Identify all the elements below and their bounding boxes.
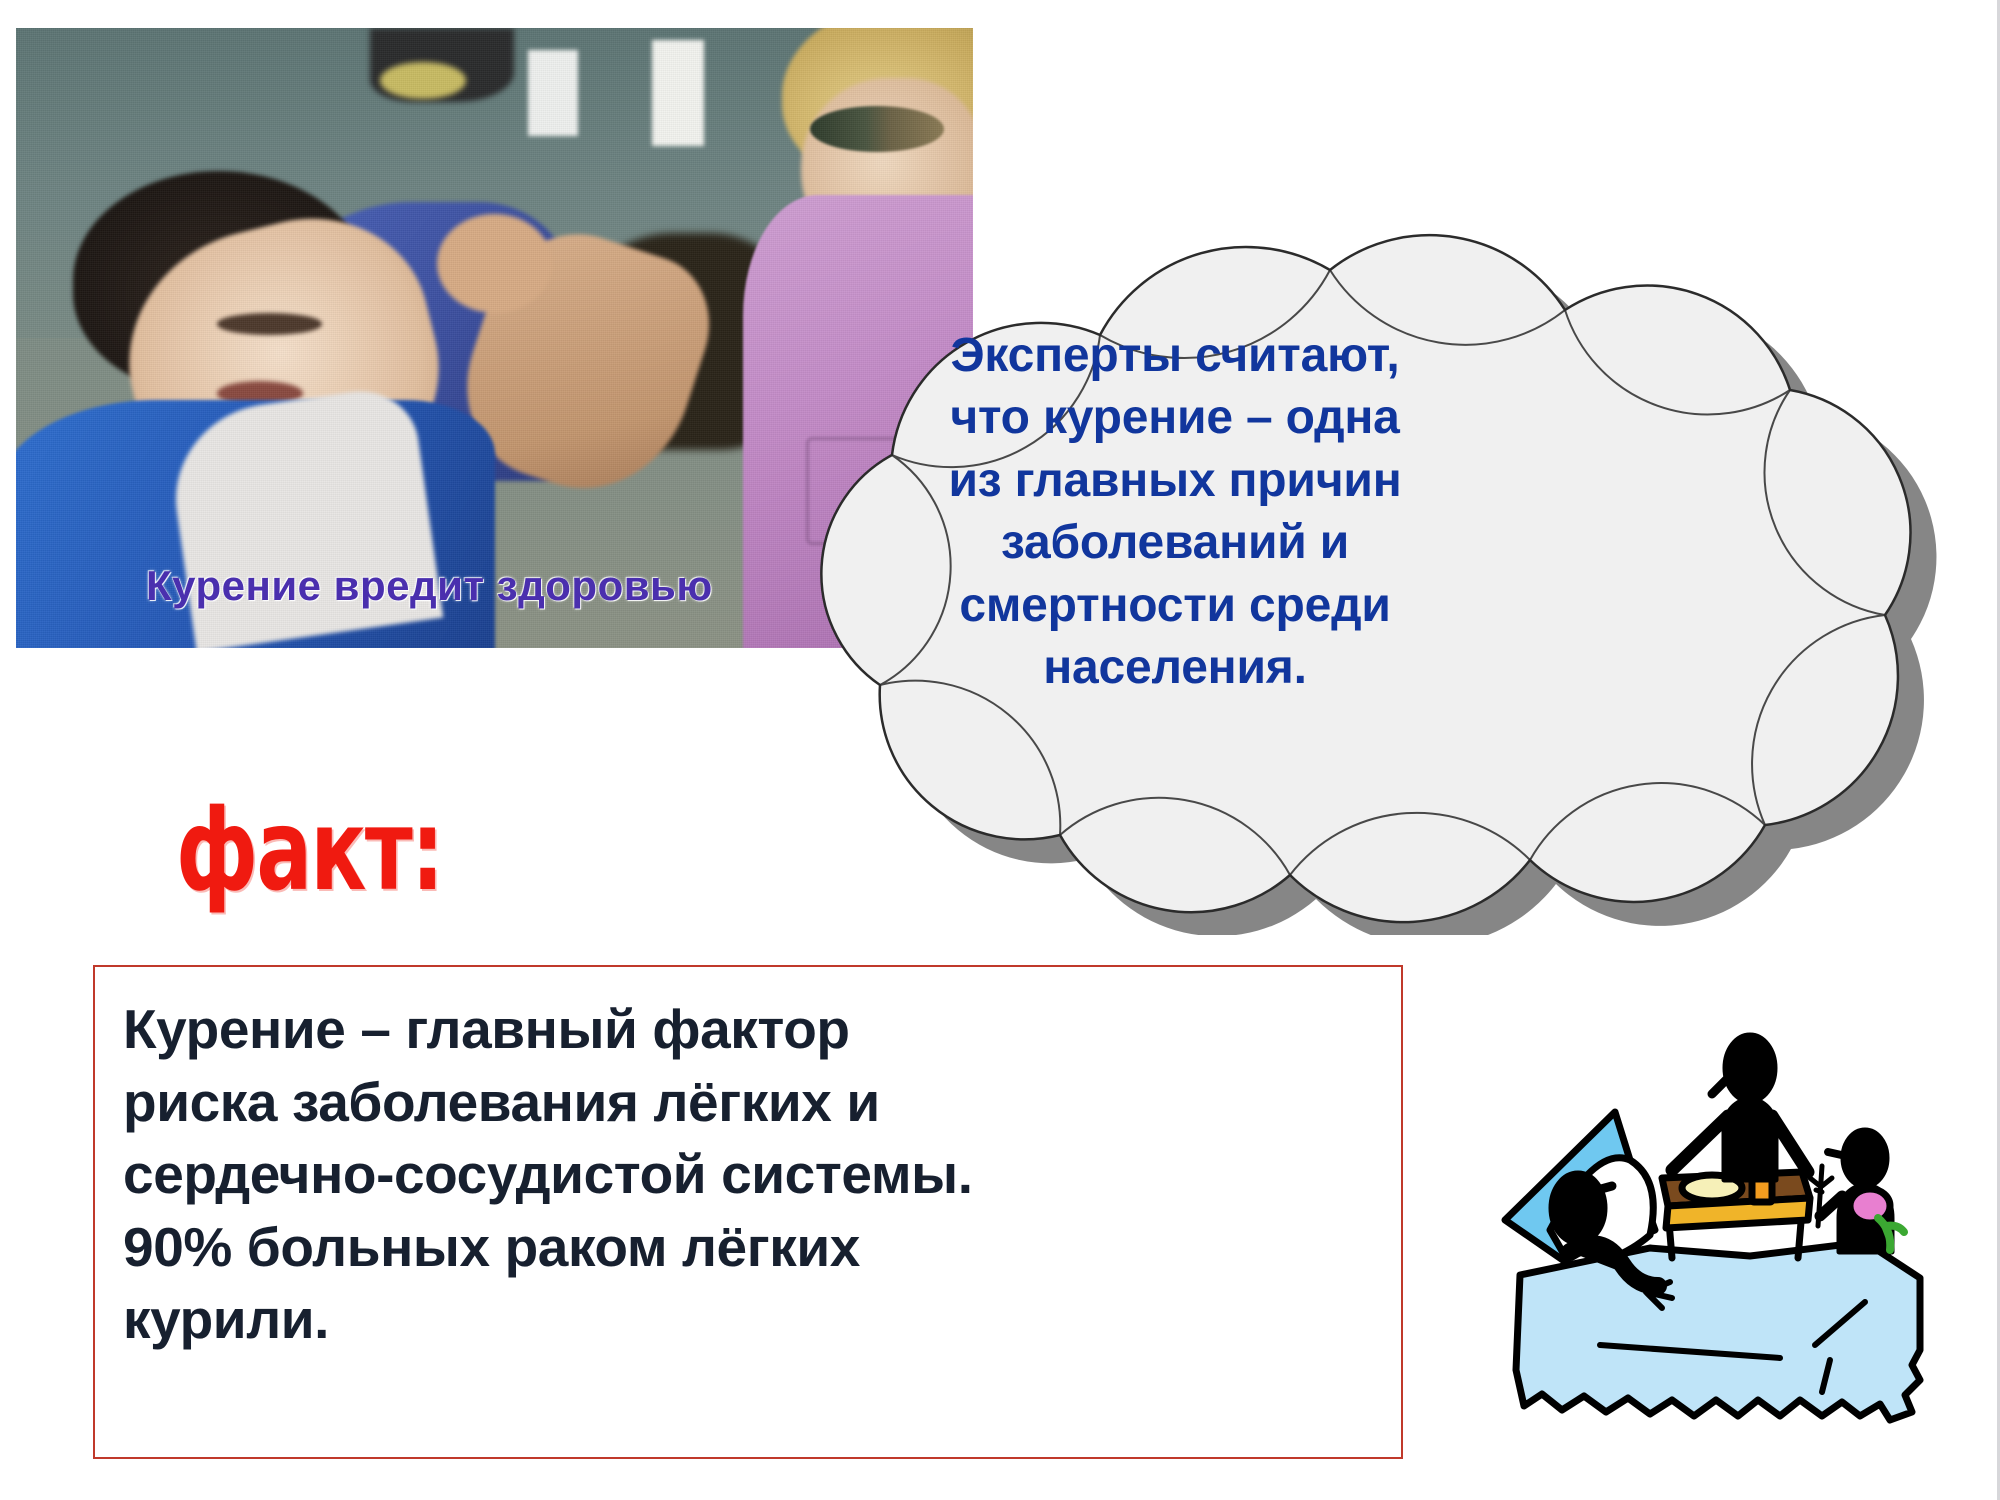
slide-canvas: Курение вредит здоровью: [0, 0, 2000, 1500]
visitor-head: [1726, 1036, 1774, 1100]
photo-window-left: [528, 50, 578, 137]
patient-head: [1552, 1174, 1604, 1242]
fact-line-2: риска заболевания лёгких и: [123, 1071, 880, 1133]
blanket: [1516, 1242, 1920, 1420]
fact-line-1: Курение – главный фактор: [123, 998, 850, 1060]
fact-line-3: сердечно-сосудистой системы.: [123, 1143, 973, 1205]
photo-hand: [437, 214, 552, 313]
visitor-nose: [1712, 1078, 1728, 1094]
cloud-text-block: Эксперты считают, что курение – одна из …: [845, 325, 1505, 699]
photo-caption: Курение вредит здоровью: [146, 562, 713, 610]
thought-cloud: Эксперты считают, что курение – одна из …: [630, 215, 1990, 935]
cloud-line-1: Эксперты считают,: [845, 325, 1505, 387]
flower-icon: [1850, 1189, 1890, 1223]
cloud-line-3: из главных причин: [845, 450, 1505, 512]
tray-front: [1666, 1198, 1810, 1228]
cloud-line-2: что курение – одна: [845, 387, 1505, 449]
fact-line-4: 90% больных раком лёгких: [123, 1216, 860, 1278]
fact-heading: факт:: [176, 795, 443, 907]
patient-nose: [1590, 1186, 1612, 1192]
cloud-line-5: смертности среди: [845, 575, 1505, 637]
bedridden-patient-clipart: [1450, 1020, 1970, 1470]
fact-body: Курение – главный фактор риска заболеван…: [95, 967, 1401, 1356]
child-nose: [1828, 1152, 1846, 1156]
child-head: [1844, 1131, 1886, 1185]
cloud-line-6: населения.: [845, 637, 1505, 699]
fact-line-5: курили.: [123, 1288, 329, 1350]
photo-closed-eye: [217, 313, 322, 335]
photo-window-right: [652, 40, 704, 145]
photo-yellow-blob: [380, 62, 466, 99]
fact-box: Курение – главный фактор риска заболеван…: [93, 965, 1403, 1459]
cloud-line-4: заболеваний и: [845, 512, 1505, 574]
sunglasses-icon: [810, 106, 944, 153]
visitor-body: [1724, 1098, 1776, 1180]
